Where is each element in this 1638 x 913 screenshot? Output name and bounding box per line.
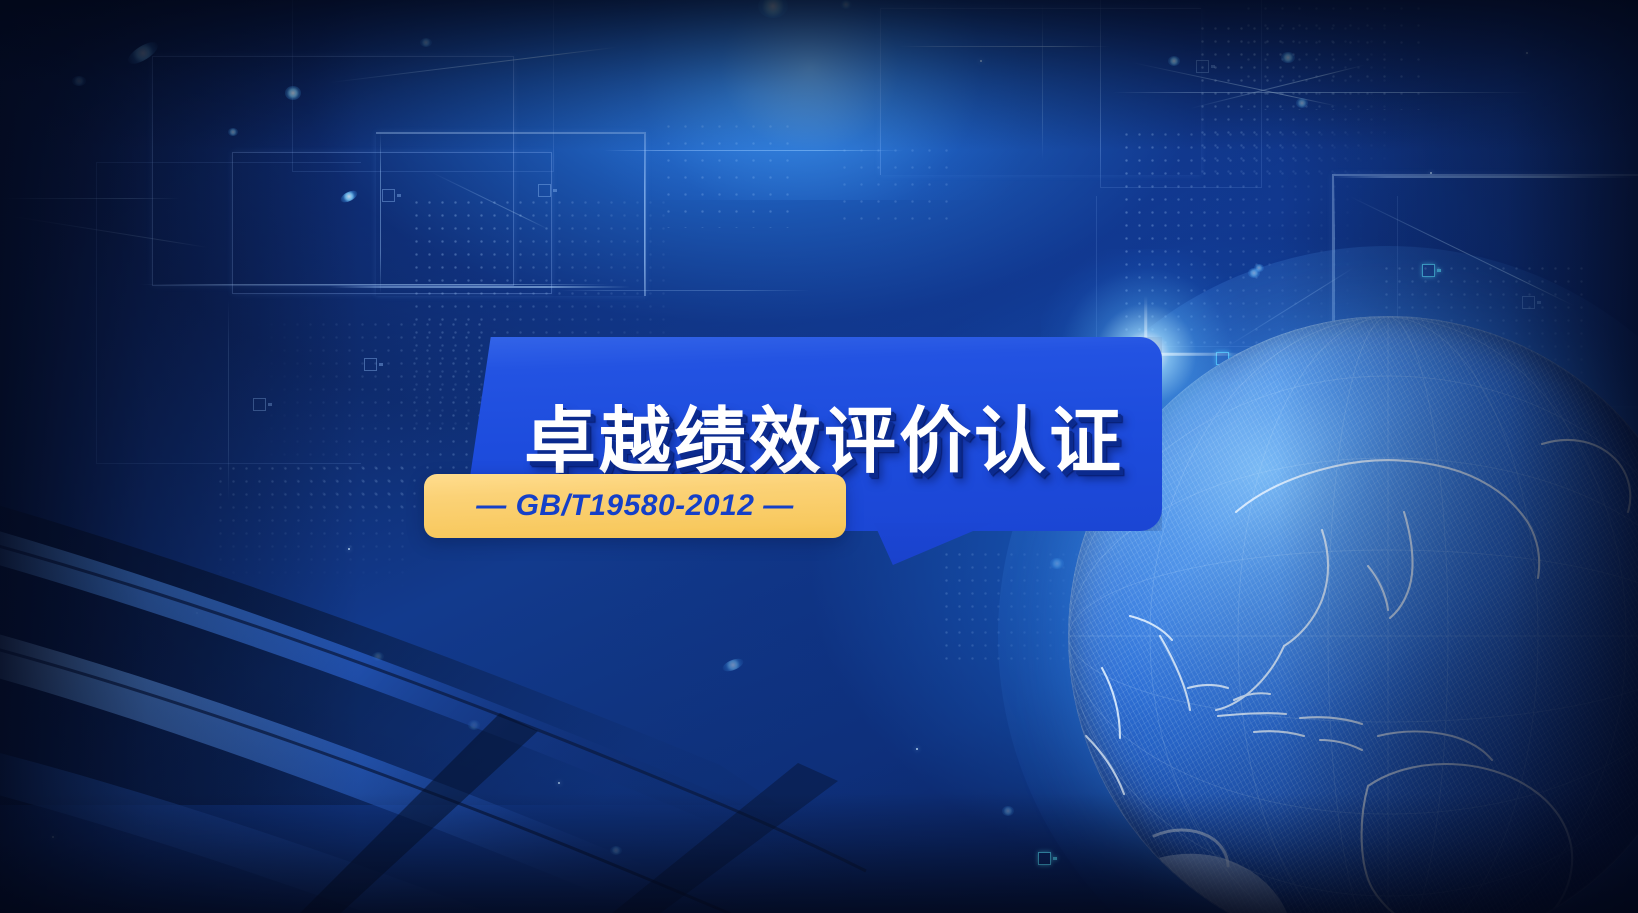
hud-marker-icon bbox=[1320, 592, 1333, 605]
slide-canvas: 卓越绩效评价认证 — GB/T19580-2012 — bbox=[0, 0, 1638, 913]
hud-marker-icon bbox=[1224, 410, 1237, 423]
hud-marker-icon bbox=[1038, 852, 1051, 865]
hud-marker-icon bbox=[1522, 296, 1535, 309]
hud-marker-icon bbox=[382, 189, 395, 202]
hud-marker-icon bbox=[1596, 742, 1609, 755]
hud-marker-icon bbox=[253, 398, 266, 411]
hud-marker-icon bbox=[538, 184, 551, 197]
hud-marker-icon bbox=[1216, 352, 1229, 365]
hud-marker-icon bbox=[364, 358, 377, 371]
hud-marker-icon bbox=[1342, 510, 1355, 523]
hud-marker-icon bbox=[1390, 476, 1403, 489]
hud-marker-icon bbox=[1362, 745, 1375, 758]
hud-marker-icon bbox=[1422, 264, 1435, 277]
hud-marker-icon bbox=[1216, 742, 1229, 755]
hud-marker-icon bbox=[1196, 60, 1209, 73]
hud-marker-icon bbox=[1290, 364, 1303, 377]
standard-code-badge: — GB/T19580-2012 — bbox=[424, 474, 846, 538]
standard-code-text: — GB/T19580-2012 — bbox=[476, 489, 793, 523]
